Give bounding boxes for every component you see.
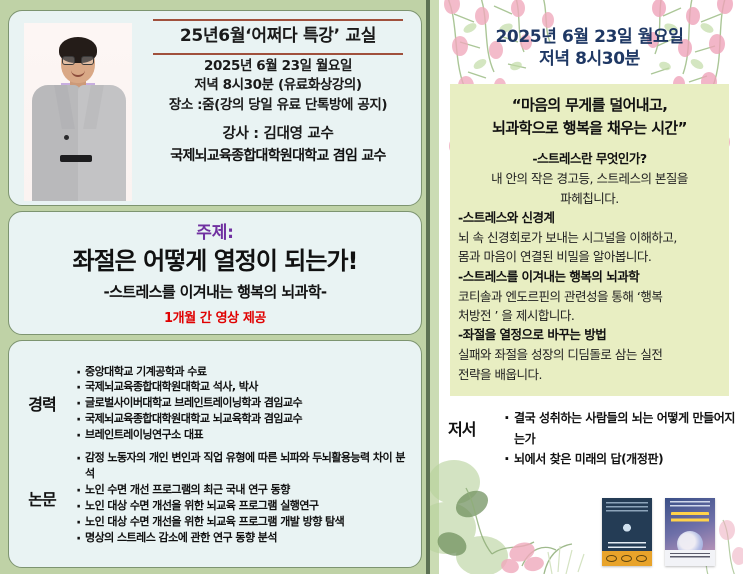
career-list: 중앙대학교 기계공학과 수료 국제뇌교육종합대학원대학교 석사, 박사 글로벌사… [73,364,413,444]
lecture-place: 장소 :줌(강의 당일 유료 단톡방에 공지) [169,96,387,116]
list-item: 노인 대상 수면 개선을 위한 뇌교육 프로그램 개발 방향 탐색 [73,514,413,530]
section-body-line: 전략을 배웁니다. [458,365,721,384]
cover-badge-icon [621,555,632,562]
section-body-line: 몸과 마음이 연결된 비밀을 알아봅니다. [458,247,721,266]
quote-line2: 뇌과학으로 행복을 채우는 시간” [458,117,721,140]
career-label: 경력 [15,391,69,415]
quote-line1: “마음의 무게를 덜어내고, [458,94,721,117]
list-item: 결국 성취하는 사람들의 뇌는 어떻게 만들어지는가 [502,408,743,449]
book-covers [602,498,715,566]
subject-label: 주제: [17,218,413,243]
cover-bottom-band [602,551,652,566]
right-date-line2: 저녁 8시30분 [450,48,729,70]
cover-top-text-lines [606,502,648,514]
replay-availability-note: 1개월 간 영상 제공 [17,307,413,326]
section-heading: -스트레스를 이겨내는 행복의 뇌과학 [458,267,721,287]
belt-shape [60,155,92,162]
section-body-line: 뇌 속 신경회로가 보내는 시그널을 이해하고, [458,228,721,247]
books-block: 저서 결국 성취하는 사람들의 뇌는 어떻게 만들어지는가 뇌에서 찾은 미래의… [430,408,743,469]
paper-list: 감정 노동자의 개인 변인과 직업 유형에 따른 뇌파와 두뇌활용능력 차이 분… [73,450,413,546]
list-item: 국제뇌교육종합대학원대학교 뇌교육학과 겸임교수 [73,411,413,427]
credentials-spacer [15,443,413,450]
profile-text: 25년6월‘어쩌다 특강’ 교실 2025년 6월 23일 월요일 저녁 8시3… [139,17,411,201]
career-block: 경력 중앙대학교 기계공학과 수료 국제뇌교육종합대학원대학교 석사, 박사 글… [15,364,413,444]
lecturer-name: 강사 : 김대영 교수 [222,122,333,143]
poster: 25년6월‘어쩌다 특강’ 교실 2025년 6월 23일 월요일 저녁 8시3… [0,0,743,574]
list-item: 노인 수면 개선 프로그램의 최근 국내 연구 동향 [73,482,413,498]
section-body-line: 내 안의 작은 경고등, 스트레스의 본질을 [458,169,721,188]
left-panel: 25년6월‘어쩌다 특강’ 교실 2025년 6월 23일 월요일 저녁 8시3… [0,0,430,574]
right-date-block: 2025년 6월 23일 월요일 저녁 8시30분 [450,26,729,70]
curriculum-section-2: -스트레스와 신경계 뇌 속 신경회로가 보내는 시그널을 이해하고, 몸과 마… [458,208,721,267]
cover-badge-icon [636,555,647,562]
right-content: 2025년 6월 23일 월요일 저녁 8시30분 “마음의 무게를 덜어내고,… [430,0,743,396]
suit-button-shape [64,135,69,140]
glasses-icon [62,56,94,65]
list-item: 중앙대학교 기계공학과 수료 [73,364,413,380]
lecture-date: 2025년 6월 23일 월요일 [204,57,352,77]
title-rule-top [153,19,403,21]
book-cover-future-answer [665,498,715,566]
section-heading: -좌절을 열정으로 바꾸는 방법 [458,325,721,345]
right-panel: 2025년 6월 23일 월요일 저녁 8시30분 “마음의 무게를 덜어내고,… [430,0,743,574]
lecture-time: 저녁 8시30분 (유료화상강의) [194,76,361,96]
profile-card: 25년6월‘어쩌다 특강’ 교실 2025년 6월 23일 월요일 저녁 8시3… [8,10,422,206]
book-cover-brain-plasticity [602,498,652,566]
list-item: 감정 노동자의 개인 변인과 직업 유형에 따른 뇌파와 두뇌활용능력 차이 분… [73,450,413,482]
quote-box: “마음의 무게를 덜어내고, 뇌과학으로 행복을 채우는 시간” -스트레스란 … [450,84,729,396]
curriculum-section-3: -스트레스를 이겨내는 행복의 뇌과학 코티솔과 엔도르핀의 관련성을 통해 ‘… [458,267,721,326]
curriculum-section-1: -스트레스란 무엇인가? 내 안의 작은 경고등, 스트레스의 본질을 파헤칩니… [458,149,721,208]
subject-card: 주제: 좌절은 어떻게 열정이 되는가! -스트레스를 이겨내는 행복의 뇌과학… [8,211,422,335]
list-item: 노인 대상 수면 개선을 위한 뇌교육 프로그램 실행연구 [73,498,413,514]
list-item: 명상의 스트레스 감소에 관한 연구 동향 분석 [73,530,413,546]
paper-block: 논문 감정 노동자의 개인 변인과 직업 유형에 따른 뇌파와 두뇌활용능력 차… [15,450,413,546]
books-label: 저서 [448,408,496,469]
section-body-line: 파헤칩니다. [458,189,721,208]
lecturer-affiliation: 국제뇌교육종합대학원대학교 겸임 교수 [170,145,385,165]
section-heading: -스트레스란 무엇인가? [458,149,721,169]
right-date-line1: 2025년 6월 23일 월요일 [450,26,729,48]
paper-label: 논문 [15,486,69,510]
cover-title-lines [608,542,646,551]
section-body-line: 코티솔과 엔도르핀의 관련성을 통해 ‘행복 [458,287,721,306]
cover-badge-icon [606,555,617,562]
curriculum-section-4: -좌절을 열정으로 바꾸는 방법 실패와 좌절을 성장의 디딤돌로 삼는 실전 … [458,325,721,384]
title-rule-bottom [153,53,403,55]
lecture-series-title: 25년6월‘어쩌다 특강’ 교실 [180,27,376,47]
cover-footer-text-lines [670,553,710,559]
instructor-photo-wrap [17,17,139,201]
section-body-line: 처방전 ’ 을 제시합니다. [458,306,721,325]
credentials-card: 경력 중앙대학교 기계공학과 수료 국제뇌교육종합대학원대학교 석사, 박사 글… [8,340,422,568]
list-item: 국제뇌교육종합대학원대학교 석사, 박사 [73,379,413,395]
subject-subheadline: -스트레스를 이겨내는 행복의 뇌과학- [17,281,413,302]
suit-left-shape [32,85,80,201]
books-list: 결국 성취하는 사람들의 뇌는 어떻게 만들어지는가 뇌에서 찾은 미래의 답(… [502,408,743,469]
instructor-portrait-photo [24,23,132,201]
cover-top-text-lines [670,501,710,509]
list-item: 뇌에서 찾은 미래의 답(개정판) [502,449,743,469]
section-heading: -스트레스와 신경계 [458,208,721,228]
cover-figure-graphic [617,520,637,542]
suit-right-shape [78,85,126,201]
cover-footer-band [665,550,715,566]
cover-title-lines [671,512,709,525]
list-item: 글로벌사이버대학교 브레인트레이닝학과 겸임교수 [73,395,413,411]
list-item: 브레인트레이닝연구소 대표 [73,427,413,443]
subject-headline: 좌절은 어떻게 열정이 되는가! [17,248,413,274]
section-body-line: 실패와 좌절을 성장의 디딤돌로 삼는 실전 [458,345,721,364]
